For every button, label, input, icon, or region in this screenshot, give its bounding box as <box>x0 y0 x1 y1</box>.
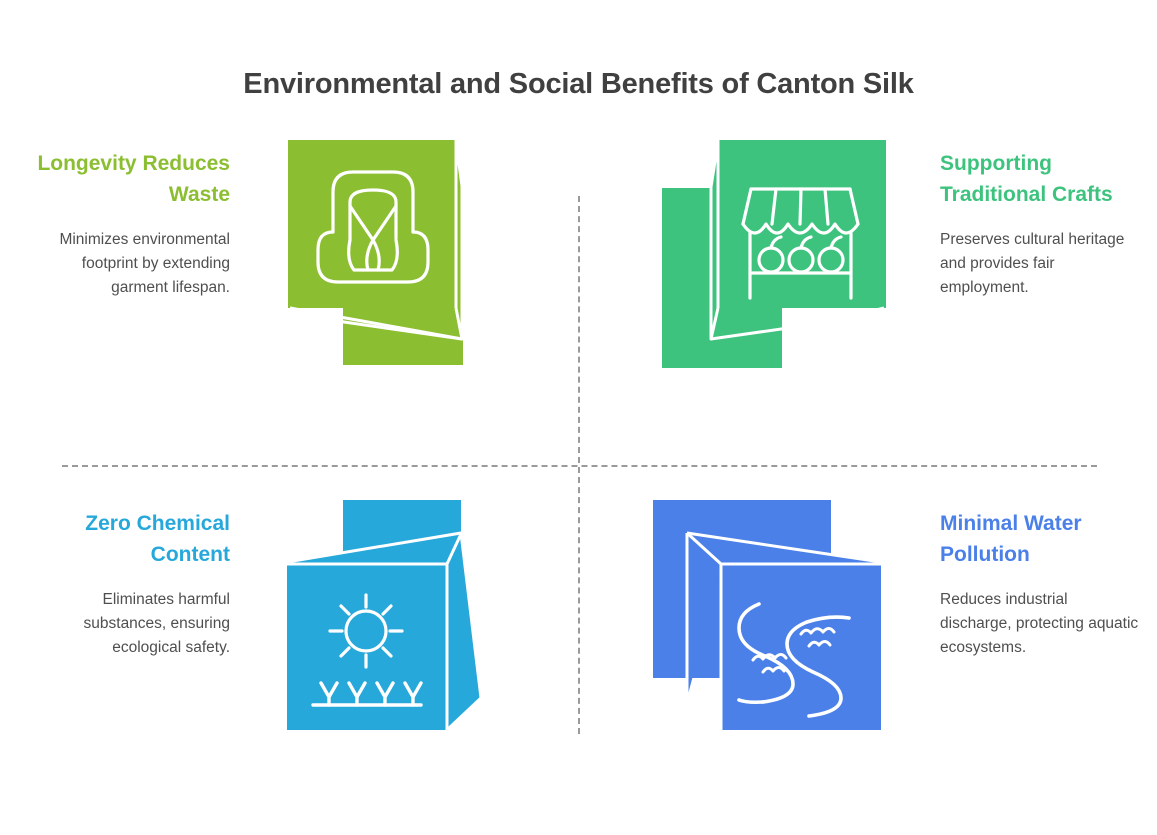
quadrant-heading: Minimal Water Pollution <box>940 508 1140 570</box>
quadrant-graphic <box>600 140 940 370</box>
quadrant-text-block: Minimal Water Pollution Reduces industri… <box>940 500 1140 660</box>
quadrant-zero-chemical-content: Zero Chemical Content Eliminates harmful… <box>30 500 578 740</box>
market-stall-icon <box>654 140 886 370</box>
river-icon <box>651 500 889 740</box>
quadrant-heading: Supporting Traditional Crafts <box>940 148 1140 210</box>
quadrant-longevity-reduces-waste: Longevity Reduces Waste Minimizes enviro… <box>30 140 578 370</box>
quadrant-heading: Longevity Reduces Waste <box>30 148 230 210</box>
sun-sprouts-icon <box>285 500 523 740</box>
quadrant-body: Minimizes environmental footprint by ext… <box>30 228 230 300</box>
quadrant-graphic <box>230 140 578 370</box>
armchair-icon <box>288 140 520 370</box>
quadrant-body: Eliminates harmful substances, ensuring … <box>30 588 230 660</box>
quadrant-graphic <box>230 500 578 740</box>
quadrant-supporting-traditional-crafts: Supporting Traditional Crafts Preserves … <box>600 140 1140 370</box>
quadrant-graphic <box>600 500 940 740</box>
quadrant-minimal-water-pollution: Minimal Water Pollution Reduces industri… <box>600 500 1140 740</box>
quadrant-text-block: Longevity Reduces Waste Minimizes enviro… <box>30 140 230 300</box>
divider-vertical <box>578 196 580 734</box>
quadrant-text-block: Supporting Traditional Crafts Preserves … <box>940 140 1140 300</box>
quadrant-text-block: Zero Chemical Content Eliminates harmful… <box>30 500 230 660</box>
quadrant-heading: Zero Chemical Content <box>30 508 230 570</box>
infographic-canvas: Environmental and Social Benefits of Can… <box>0 0 1157 835</box>
quadrant-body: Reduces industrial discharge, protecting… <box>940 588 1140 660</box>
quadrant-body: Preserves cultural heritage and provides… <box>940 228 1140 300</box>
page-title: Environmental and Social Benefits of Can… <box>0 68 1157 101</box>
